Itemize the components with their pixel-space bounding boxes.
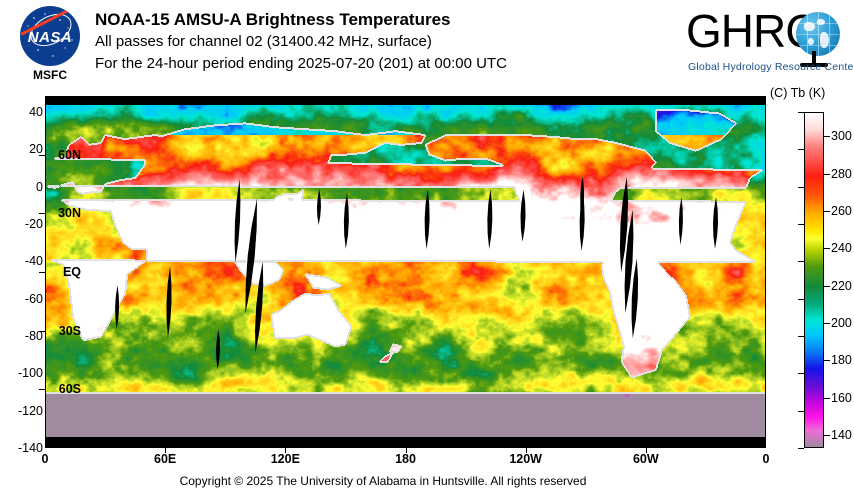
lon-label-5: 60W (633, 452, 659, 466)
colorbar-heading: (C) Tb (K) (770, 86, 854, 100)
colorbar-kelvin-tick-260 (824, 211, 830, 212)
colorbar-kelvin-label-200: 200 (831, 316, 852, 330)
colorbar-celsius-tick-0 (798, 187, 804, 188)
colorbar-kelvin-tick-300 (824, 136, 830, 137)
colorbar-celsius-label--100: -100 (3, 366, 50, 380)
page-subtitle-channel: All passes for channel 02 (31400.42 MHz,… (95, 31, 507, 53)
page-subtitle-period: For the 24-hour period ending 2025-07-20… (95, 53, 507, 75)
lon-label-6: 0 (763, 452, 770, 466)
colorbar-celsius-label--120: -120 (3, 404, 50, 418)
page-title: NOAA-15 AMSU-A Brightness Temperatures (95, 9, 507, 31)
lat-label-60s: 60S (41, 382, 88, 396)
colorbar-celsius-label--60: -60 (3, 292, 50, 306)
colorbar (804, 112, 824, 448)
colorbar-kelvin-tick-140 (824, 435, 830, 436)
ghrc-globe-icon (796, 12, 840, 56)
colorbar-kelvin-tick-240 (824, 248, 830, 249)
lon-label-2: 120E (271, 452, 300, 466)
colorbar-celsius-tick--140 (798, 448, 804, 449)
nasa-logo: NASA MSFC (14, 6, 86, 84)
lon-tick-3 (406, 448, 407, 453)
colorbar-kelvin-label-240: 240 (831, 241, 852, 255)
colorbar-kelvin-label-220: 220 (831, 279, 852, 293)
title-block: NOAA-15 AMSU-A Brightness Temperatures A… (95, 9, 507, 75)
lat-tick-30n (39, 213, 45, 214)
colorbar-celsius-label--20: -20 (3, 217, 50, 231)
colorbar-celsius-tick--60 (798, 299, 804, 300)
colorbar-celsius-tick--120 (798, 411, 804, 412)
colorbar-celsius-tick--20 (798, 224, 804, 225)
colorbar-kelvin-label-260: 260 (831, 204, 852, 218)
ghrc-logo: GHRC Global Hydrology Resource Center (686, 4, 846, 80)
colorbar-kelvin-label-140: 140 (831, 428, 852, 442)
lon-label-1: 60E (154, 452, 176, 466)
colorbar-celsius-tick--40 (798, 261, 804, 262)
colorbar-kelvin-label-160: 160 (831, 391, 852, 405)
ghrc-tagline: Global Hydrology Resource Center (688, 61, 854, 73)
colorbar-kelvin-label-300: 300 (831, 129, 852, 143)
colorbar-celsius-tick--100 (798, 373, 804, 374)
lat-tick-eq (39, 272, 45, 273)
colorbar-celsius-tick-40 (798, 112, 804, 113)
lat-tick-60s (39, 389, 45, 390)
lon-tick-2 (285, 448, 286, 453)
colorbar-kelvin-tick-160 (824, 398, 830, 399)
colorbar-kelvin-tick-180 (824, 360, 830, 361)
colorbar-celsius-tick--80 (798, 336, 804, 337)
lon-tick-4 (526, 448, 527, 453)
colorbar-celsius-label--40: -40 (3, 254, 50, 268)
nasa-meatball-icon: NASA (20, 6, 80, 66)
colorbar-kelvin-tick-220 (824, 286, 830, 287)
lon-tick-5 (646, 448, 647, 453)
colorbar-celsius-label--140: -140 (3, 441, 50, 455)
colorbar-kelvin-tick-280 (824, 174, 830, 175)
colorbar-celsius-tick-20 (798, 149, 804, 150)
colorbar-kelvin-tick-200 (824, 323, 830, 324)
colorbar-celsius-label-40: 40 (3, 105, 50, 119)
colorbar-kelvin-label-280: 280 (831, 167, 852, 181)
brightness-temperature-map (45, 96, 766, 448)
map-raster (45, 96, 766, 448)
colorbar-celsius-label--80: -80 (3, 329, 50, 343)
colorbar-kelvin-label-180: 180 (831, 353, 852, 367)
lon-label-3: 180 (395, 452, 416, 466)
lon-label-4: 120W (509, 452, 542, 466)
colorbar-celsius-label-0: 0 (3, 180, 50, 194)
msfc-label: MSFC (14, 68, 86, 82)
colorbar-celsius-label-20: 20 (3, 142, 50, 156)
copyright-notice: Copyright © 2025 The University of Alaba… (0, 474, 766, 488)
colorbar-gradient (804, 112, 824, 448)
lon-tick-1 (165, 448, 166, 453)
page-header: NASA MSFC NOAA-15 AMSU-A Brightness Temp… (0, 0, 854, 88)
